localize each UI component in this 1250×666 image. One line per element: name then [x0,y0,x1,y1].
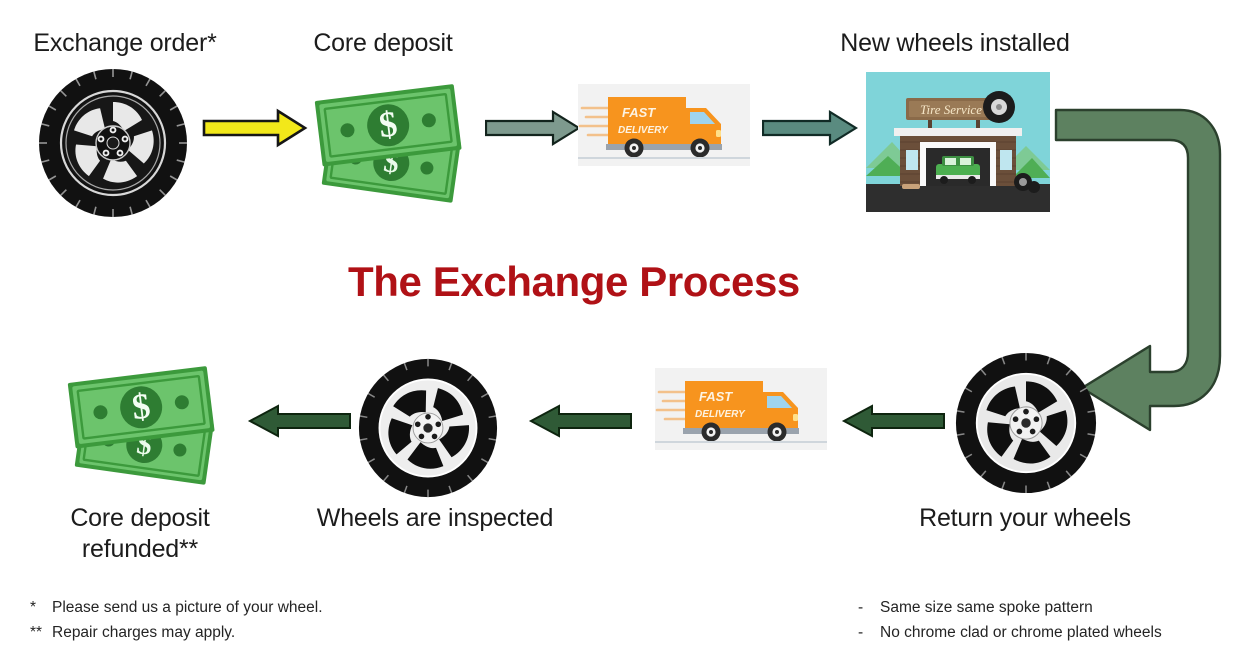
footnote-left-2: **Repair charges may apply. [30,620,323,645]
footnote-left-1-mark: * [30,595,52,620]
van-text-fast-return: FAST [699,389,733,404]
alloy-wheel-silver-icon-return [955,352,1097,494]
van-text-delivery-return: DELIVERY [695,409,746,420]
cash-banknotes-icon-refund: $ $ [58,352,230,492]
refund-label-line-2: refunded** [82,535,198,563]
footnote-left-2-text: Repair charges may apply. [52,624,235,641]
arrow-shipback-to-inspect [527,404,633,438]
page-title: The Exchange Process [348,258,800,306]
alloy-wheel-silver-icon-inspected [358,358,498,498]
cash-banknotes-icon: $ $ [307,70,475,210]
footnote-right-1-text: Same size same spoke pattern [880,599,1093,616]
footnote-left-1: *Please send us a picture of your wheel. [30,595,323,620]
footnote-right-2-mark: - [858,620,880,645]
footnote-right-1-mark: - [858,595,880,620]
fast-delivery-van-image: FAST DELIVERY [578,84,750,166]
step-label-return-your-wheels: Return your wheels [890,503,1160,534]
fast-delivery-van-image-return: FAST DELIVERY [655,368,827,450]
step-label-exchange-order: Exchange order* [0,28,250,59]
step-label-new-wheels-installed: New wheels installed [810,28,1100,59]
footnote-right-1: -Same size same spoke pattern [858,595,1162,620]
arrow-return-to-inspect [840,404,946,438]
alloy-wheel-dark-icon [38,68,188,218]
footnote-right-2: -No chrome clad or chrome plated wheels [858,620,1162,645]
step-label-core-deposit-refunded: Core deposit refunded** [25,503,255,564]
footnote-left-2-mark: ** [30,620,52,645]
tire-service-shop-image: Tire Service [866,72,1050,212]
arrow-shipping-to-shop [762,110,858,146]
exchange-process-diagram: Exchange order* Core deposit New wheels … [0,0,1250,666]
step-label-core-deposit: Core deposit [283,28,483,59]
step-label-wheels-inspected: Wheels are inspected [300,503,570,534]
arrow-deposit-to-shipping [485,110,581,146]
arrow-order-to-deposit [202,108,308,148]
refund-label-line-1: Core deposit [70,504,209,532]
footnotes-right: -Same size same spoke pattern -No chrome… [858,595,1162,645]
van-text-fast: FAST [622,105,656,120]
footnote-left-1-text: Please send us a picture of your wheel. [52,599,323,616]
footnote-right-2-text: No chrome clad or chrome plated wheels [880,624,1162,641]
van-text-delivery: DELIVERY [618,125,669,136]
arrow-inspect-to-refund [246,404,352,438]
footnotes-left: *Please send us a picture of your wheel.… [30,595,323,645]
shop-sign-text: Tire Service [920,102,982,117]
